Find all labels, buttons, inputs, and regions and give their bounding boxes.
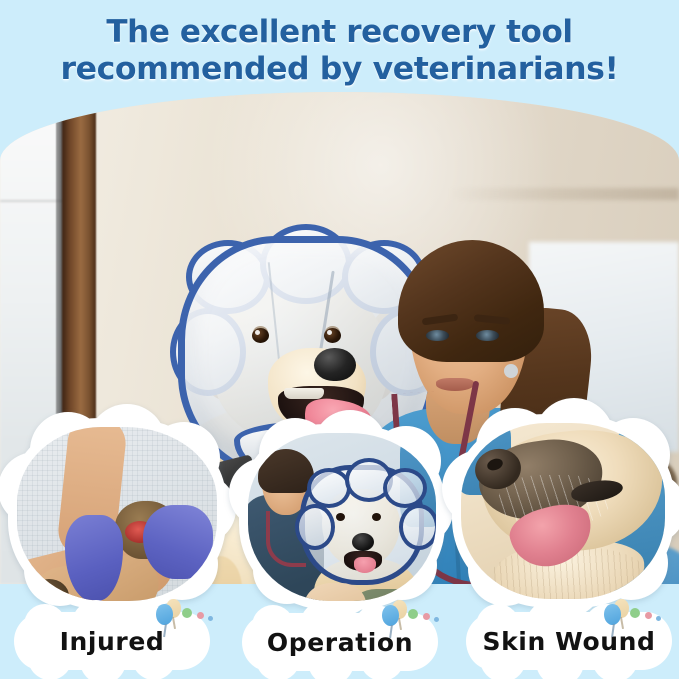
inset-cloud-frame: [239, 424, 445, 610]
dog-eye-left: [336, 513, 345, 521]
confetti-dot-green: [408, 609, 418, 619]
dog-nose: [314, 348, 356, 381]
inset-operation: [239, 424, 445, 610]
inset-injured: [8, 418, 226, 610]
inset-photo-injured: [17, 427, 217, 601]
dog-nose: [352, 533, 374, 551]
dog-eye-right: [372, 513, 381, 521]
balloon-decoration-1: [152, 598, 216, 634]
headline-line-1: The excellent recovery tool: [0, 14, 679, 51]
collar-petal-left: [295, 504, 335, 550]
nitrile-glove-left: [65, 515, 123, 601]
confetti-dot-blue: [434, 617, 439, 622]
headline-line-2: recommended by veterinarians!: [0, 51, 679, 88]
dog-eye-right: [324, 328, 341, 343]
nitrile-glove-right: [143, 505, 213, 579]
inset-photo-skin-wound: [461, 423, 665, 599]
confetti-dot-green: [182, 608, 192, 618]
balloon-icon-blue: [156, 604, 173, 625]
product-banner: The excellent recovery tool recommended …: [0, 0, 679, 679]
confetti-dot-blue: [208, 616, 213, 621]
balloon-decoration-3: [600, 598, 664, 634]
headline: The excellent recovery tool recommended …: [0, 14, 679, 88]
dog-teeth: [284, 388, 324, 399]
veterinarian-hair: [398, 240, 544, 362]
dog-eye-left: [252, 328, 269, 343]
veterinarian-eye-left: [426, 330, 449, 341]
balloon-string: [620, 617, 624, 629]
collar-petal-top-left: [307, 468, 351, 508]
balloon-decoration-2: [378, 599, 442, 635]
confetti-dot-blue: [656, 616, 661, 621]
inset-cloud-frame: [8, 418, 226, 610]
inset-cloud-frame: [452, 414, 674, 608]
inset-skin-wound: [452, 414, 674, 608]
inset-photo-operation: [248, 433, 436, 601]
veterinarian-eye-right: [476, 330, 499, 341]
balloon-icon-blue: [604, 604, 621, 625]
balloon-string: [172, 617, 176, 629]
balloon-string: [398, 618, 402, 630]
confetti-dot-pink: [645, 612, 652, 619]
ceiling-line: [449, 188, 679, 200]
confetti-dot-pink: [423, 613, 430, 620]
stethoscope-earpiece: [504, 364, 518, 378]
confetti-dot-pink: [197, 612, 204, 619]
collar-petal-top-right: [383, 468, 427, 508]
balloon-icon-blue: [382, 605, 399, 626]
collar-petal-right: [399, 504, 436, 550]
confetti-dot-green: [630, 608, 640, 618]
